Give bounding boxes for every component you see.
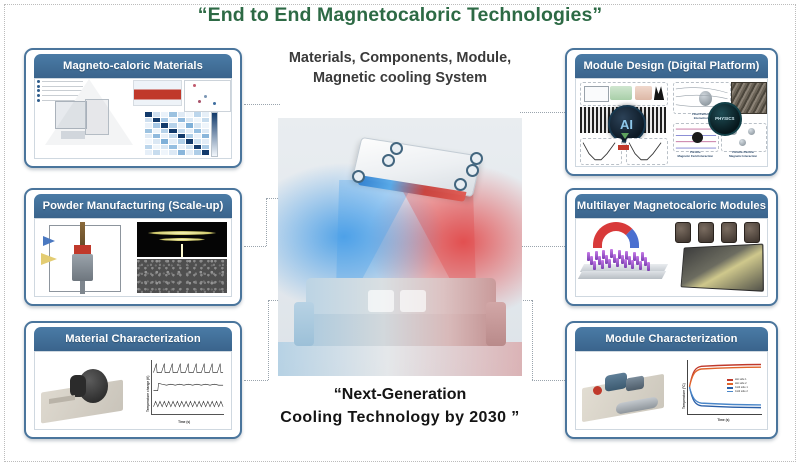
connection-node [470,152,483,165]
panel-body-multilayer-modules [575,218,768,297]
scatter-plot [184,80,231,112]
panel-material-characterization[interactable]: Material Characterization Temperature ch… [24,321,242,439]
pin-array-with-magnet [576,219,672,296]
highlight-marker [618,145,629,150]
panel-multilayer-modules[interactable]: Multilayer Magnetocaloric Modules [565,188,778,306]
center-top-caption: Materials, Components, Module, Magnetic … [255,49,545,88]
sintered-puck [744,222,760,243]
panel-body-material-characterization: Temperature change (K) Time (s) [34,351,232,430]
test-bench-photo [576,352,672,429]
sintered-puck [698,222,714,243]
connector-modc-v [532,300,533,380]
simulation-curves-left [580,138,622,164]
correlation-heatmap [145,112,210,155]
sofa-arm-left [294,302,314,346]
sem-powder-micrograph [137,259,227,293]
panel-powder-manufacturing[interactable]: Powder Manufacturing (Scale-up) [24,188,242,306]
sintered-puck [675,222,691,243]
panel-body-module-design: AI [575,78,768,167]
timeseries-traces [152,360,225,414]
particle-field-caption: Particle Magnetic Field Interaction [673,151,717,158]
sintered-puck [721,222,737,243]
pin-array-regenerator [586,245,662,267]
panel-module-design[interactable]: Module Design (Digital Platform) AI [565,48,778,176]
plot-area [151,360,225,415]
physics-interaction-figures: Flow-Particle Interaction Particle Ma [672,79,768,166]
sofa-cushion [368,290,394,312]
connector-mod [520,112,565,113]
panel-title-powder-manufacturing: Powder Manufacturing (Scale-up) [34,194,232,218]
figure-root: “End to End Magnetocaloric Technologies”… [0,0,800,466]
panel-title-multilayer-modules: Multilayer Magnetocaloric Modules [575,194,768,218]
module-renders [672,219,768,296]
connector-matc-v [268,300,269,380]
central-cooling-illustration [278,118,522,376]
ternary-triangle [41,90,117,148]
connection-node [352,170,365,183]
ai-digital-platform-figures: AI [576,79,672,166]
melt-spark-photo [137,222,227,257]
y-axis-label: Temperature change (K) [146,376,150,412]
figure-title: “End to End Magnetocaloric Technologies” [0,4,800,27]
panel-title-module-design: Module Design (Digital Platform) [575,54,768,78]
panel-magneto-caloric-materials[interactable]: Magneto-caloric Materials [24,48,242,168]
connector-pow-v [266,198,267,246]
connection-node [382,154,395,167]
connector-matc-h [244,380,268,381]
connector-mlm [520,246,565,247]
connection-node [454,178,467,191]
regenerator-plate [578,271,666,279]
panel-body-magneto-caloric-materials [34,78,232,159]
connector-modc-h [532,380,565,381]
temperature-time-series-chart: Temperature change (K) Time (s) [133,352,231,429]
center-top-line2: Magnetic cooling System [313,70,487,86]
panel-title-magneto-caloric-materials: Magneto-caloric Materials [34,54,232,78]
hot-cold-curve-chart: Hot side 1 Hot side 2 Cold side 1 Cold s… [672,352,768,429]
ternary-phase-diagram [35,79,133,158]
sofa [294,278,506,352]
panel-module-characterization[interactable]: Module Characterization [565,321,778,439]
y-axis-label: Temperature (°C) [682,383,686,409]
center-bottom-caption: “Next-Generation Cooling Technology by 2… [245,383,555,429]
energy-band-diagram [133,80,182,106]
panel-title-material-characterization: Material Characterization [34,327,232,351]
center-top-line1: Materials, Components, Module, [289,50,511,66]
chart-legend: Hot side 1 Hot side 2 Cold side 1 Cold s… [727,378,748,394]
center-bottom-line1: “Next-Generation [334,386,466,403]
hot-cold-traces [688,360,762,414]
center-bottom-line2: Cooling Technology by 2030 ” [245,406,555,429]
physics-badge: PHYSICS [708,102,742,136]
particle-particle-caption: Particle-Particle Magnetic Interaction [721,151,765,158]
connector-pow-h [244,246,266,247]
horseshoe-magnet [593,222,639,248]
measurement-rig-photo [35,352,133,429]
sofa-cushion [400,290,426,312]
gas-atomizer-schematic [35,219,133,296]
simulation-curves-right [626,138,668,164]
heatmap-colorbar [211,112,218,157]
connector-mcm [244,104,280,105]
x-axis-label: Time (s) [717,418,729,422]
panel-title-module-characterization: Module Characterization [575,327,768,351]
connection-node [466,164,479,177]
module-3d-render [681,244,765,292]
x-axis-label: Time (s) [178,420,190,424]
plot-area [687,360,762,415]
legend-item: Cold side 2 [735,390,748,394]
connection-node [390,142,403,155]
panel-body-module-characterization: Hot side 1 Hot side 2 Cold side 1 Cold s… [575,351,768,430]
sofa-arm-right [486,302,506,346]
panel-body-powder-manufacturing [34,218,232,297]
sofa-seat [298,314,502,346]
powder-imaging [133,219,231,296]
materials-data-figures [133,79,231,158]
cad-model-row [580,82,668,107]
